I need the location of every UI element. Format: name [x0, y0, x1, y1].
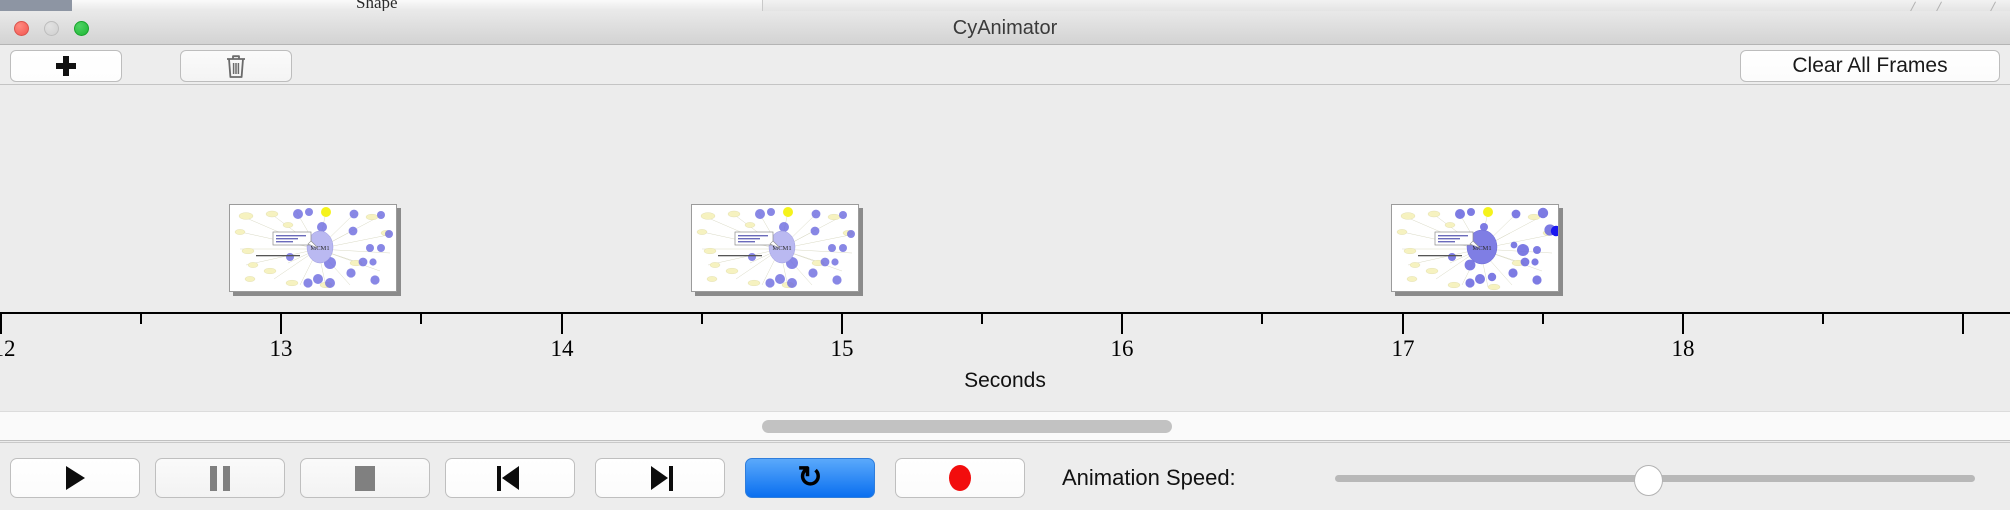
axis-tick-major [1121, 314, 1123, 334]
axis-tick-major [280, 314, 282, 334]
timeline-panel[interactable]: MCM1 [0, 86, 2010, 411]
timeline-axis [0, 312, 2010, 314]
clear-all-frames-label: Clear All Frames [1792, 54, 1947, 78]
stop-icon [355, 466, 375, 491]
record-icon [949, 465, 971, 491]
network-graph-thumbnail: MCM1 [230, 205, 397, 292]
play-icon [66, 466, 85, 490]
timeline-scrollbar-thumb[interactable] [762, 420, 1172, 433]
background-cell [72, 0, 183, 11]
skip-forward-icon [647, 466, 673, 491]
axis-tick-label: 17 [1392, 336, 1415, 362]
axis-tick-label: 15 [831, 336, 854, 362]
background-window-label: Shape [356, 0, 398, 11]
timeline-frame-3[interactable]: MCM1 [1391, 204, 1559, 292]
playback-controls: ↻ Animation Speed: [0, 442, 2010, 510]
network-graph-thumbnail: MCM1 [1392, 205, 1559, 292]
animation-speed-slider-knob[interactable] [1634, 465, 1663, 496]
next-frame-button[interactable] [595, 458, 725, 498]
timeline-frame-2[interactable]: MCM1 [691, 204, 859, 292]
pause-button[interactable] [155, 458, 285, 498]
delete-frame-button[interactable] [180, 50, 292, 82]
frame-toolbar: Clear All Frames [0, 45, 2010, 85]
axis-tick-major [1402, 314, 1404, 334]
axis-tick-minor [701, 314, 703, 324]
skip-back-icon [497, 466, 523, 491]
window-title: CyAnimator [0, 11, 2010, 45]
background-divider [1989, 2, 1996, 11]
axis-tick-major [1962, 314, 1964, 334]
play-button[interactable] [10, 458, 140, 498]
axis-tick-minor [981, 314, 983, 324]
timeline-frame-1[interactable]: MCM1 [229, 204, 397, 292]
loop-button[interactable]: ↻ [745, 458, 875, 498]
axis-tick-label: 18 [1672, 336, 1695, 362]
axis-tick-minor [1822, 314, 1824, 324]
axis-tick-major [1682, 314, 1684, 334]
previous-frame-button[interactable] [445, 458, 575, 498]
cyanimator-window: Shape CyAnimator Clear All Frames [0, 0, 2010, 510]
background-window-strip: Shape [0, 0, 2010, 11]
title-bar[interactable]: CyAnimator [0, 11, 2010, 45]
axis-tick-label: 12 [0, 336, 16, 362]
animation-speed-label: Animation Speed: [1062, 458, 1236, 498]
axis-tick-label: 14 [551, 336, 574, 362]
background-cell [362, 0, 693, 11]
background-selected-tab [0, 0, 72, 11]
timeline-scrollbar[interactable] [0, 411, 2010, 441]
clear-all-frames-button[interactable]: Clear All Frames [1740, 50, 2000, 82]
axis-tick-label: 16 [1111, 336, 1134, 362]
axis-tick-major [841, 314, 843, 334]
axis-tick-label: 13 [270, 336, 293, 362]
axis-tick-minor [1261, 314, 1263, 324]
background-cell [692, 0, 763, 11]
background-cell [302, 0, 363, 11]
add-frame-button[interactable] [10, 50, 122, 82]
axis-tick-minor [1542, 314, 1544, 324]
stop-button[interactable] [300, 458, 430, 498]
axis-tick-major [0, 314, 2, 334]
loop-icon: ↻ [797, 463, 822, 493]
axis-title: Seconds [0, 369, 2010, 393]
background-divider [1909, 2, 1916, 11]
trash-icon [225, 53, 247, 79]
background-cell [242, 0, 303, 11]
network-graph-thumbnail: MCM1 [692, 205, 859, 292]
background-cell [182, 0, 243, 11]
plus-icon [56, 56, 76, 76]
axis-tick-minor [420, 314, 422, 324]
background-divider [1935, 2, 1942, 11]
axis-tick-minor [140, 314, 142, 324]
pause-icon [210, 466, 230, 491]
axis-tick-major [561, 314, 563, 334]
record-button[interactable] [895, 458, 1025, 498]
